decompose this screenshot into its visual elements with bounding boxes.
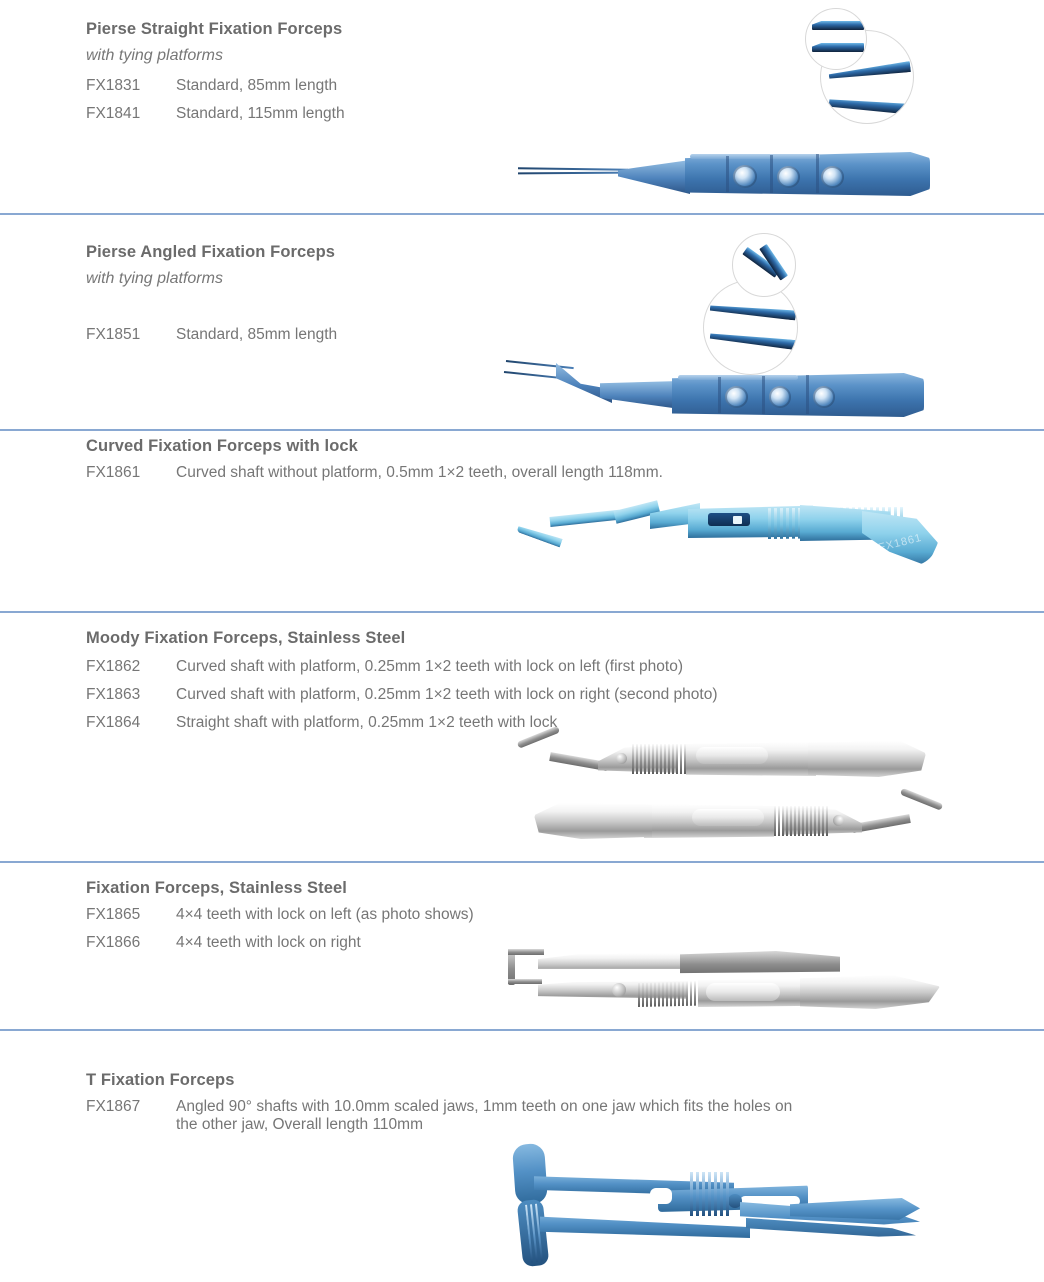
product-code: FX1863 xyxy=(86,686,176,704)
spec-row: FX1841Standard, 115mm length xyxy=(86,105,345,123)
product-code: FX1867 xyxy=(86,1098,176,1116)
product-subtitle: with tying platforms xyxy=(86,47,223,65)
ribbed-grip xyxy=(690,1172,732,1216)
section-divider xyxy=(0,429,1044,431)
section-divider xyxy=(0,1029,1044,1031)
product-title: Fixation Forceps, Stainless Steel xyxy=(86,879,347,898)
spec-row: FX1867Angled 90° shafts with 10.0mm scal… xyxy=(86,1098,986,1134)
handle-hole xyxy=(813,386,835,408)
spec-row: FX1851Standard, 85mm length xyxy=(86,326,337,344)
product-title: Pierse Angled Fixation Forceps xyxy=(86,243,335,262)
handle-hole xyxy=(777,166,800,188)
lock-pin xyxy=(612,983,626,997)
spec-row: FX18664×4 teeth with lock on right xyxy=(86,934,361,952)
moody-forceps-lock-left xyxy=(510,730,950,788)
section-divider xyxy=(0,213,1044,215)
moody-fixation-forceps-photos xyxy=(510,730,950,850)
pierse-angled-fixation-forceps-photo xyxy=(500,225,1044,430)
handle-hole xyxy=(733,165,757,188)
product-description: 4×4 teeth with lock on right xyxy=(176,934,361,951)
product-description-continued: the other jaw, Overall length 110mm xyxy=(176,1116,986,1134)
product-title: Moody Fixation Forceps, Stainless Steel xyxy=(86,629,405,648)
ribbed-grip xyxy=(632,744,690,774)
pierse-straight-fixation-forceps-photo xyxy=(500,0,1044,215)
section-divider xyxy=(0,861,1044,863)
section-divider xyxy=(0,611,1044,613)
lock-pin xyxy=(833,815,844,826)
t-bar-upper xyxy=(512,1143,548,1205)
product-description: Curved shaft with platform, 0.25mm 1×2 t… xyxy=(176,658,683,675)
t-fixation-forceps-photo xyxy=(490,1140,940,1282)
forceps-body xyxy=(500,150,930,208)
product-description: Standard, 85mm length xyxy=(176,77,337,94)
product-code: FX1862 xyxy=(86,658,176,676)
lock-pin xyxy=(616,753,627,764)
handle-hole xyxy=(769,386,791,408)
product-title: Curved Fixation Forceps with lock xyxy=(86,437,358,456)
spec-row: FX1863Curved shaft with platform, 0.25mm… xyxy=(86,686,717,704)
product-description: Curved shaft with platform, 0.25mm 1×2 t… xyxy=(176,686,717,703)
product-code: FX1865 xyxy=(86,906,176,924)
spec-row: FX1861Curved shaft without platform, 0.5… xyxy=(86,464,663,482)
product-description: 4×4 teeth with lock on left (as photo sh… xyxy=(176,906,474,923)
product-title: T Fixation Forceps xyxy=(86,1071,235,1090)
tip-detail-inset-upper xyxy=(732,233,796,297)
fixation-forceps-stainless-photo xyxy=(490,935,940,1030)
product-code: FX1851 xyxy=(86,326,176,344)
product-description: Standard, 85mm length xyxy=(176,326,337,343)
spec-row: FX1862Curved shaft with platform, 0.25mm… xyxy=(86,658,683,676)
ribbed-grip xyxy=(638,981,704,1007)
product-description: Curved shaft without platform, 0.5mm 1×2… xyxy=(176,464,663,481)
product-code: FX1861 xyxy=(86,464,176,482)
product-subtitle: with tying platforms xyxy=(86,270,223,288)
spec-row: FX1831Standard, 85mm length xyxy=(86,77,337,95)
forceps-body xyxy=(500,355,930,425)
product-description: Standard, 115mm length xyxy=(176,105,345,122)
product-code: FX1864 xyxy=(86,714,176,732)
spec-row: FX18654×4 teeth with lock on left (as ph… xyxy=(86,906,474,924)
tip-detail-inset-upper xyxy=(805,8,867,70)
catalog-page: Pierse Straight Fixation Forceps with ty… xyxy=(0,0,1044,1282)
product-description: Straight shaft with platform, 0.25mm 1×2… xyxy=(176,714,557,731)
product-code: FX1866 xyxy=(86,934,176,952)
lock-slider xyxy=(708,513,750,526)
handle-hole xyxy=(725,386,748,408)
product-title: Pierse Straight Fixation Forceps xyxy=(86,20,342,39)
spec-row: FX1864Straight shaft with platform, 0.25… xyxy=(86,714,557,732)
curved-fixation-forceps-photo: FX1861 xyxy=(510,495,950,595)
ribbed-grip xyxy=(770,806,828,836)
moody-forceps-lock-right xyxy=(510,792,950,850)
product-code: FX1831 xyxy=(86,77,176,95)
product-code: FX1841 xyxy=(86,105,176,123)
handle-hole xyxy=(821,166,844,188)
product-description: Angled 90° shafts with 10.0mm scaled jaw… xyxy=(176,1098,792,1115)
